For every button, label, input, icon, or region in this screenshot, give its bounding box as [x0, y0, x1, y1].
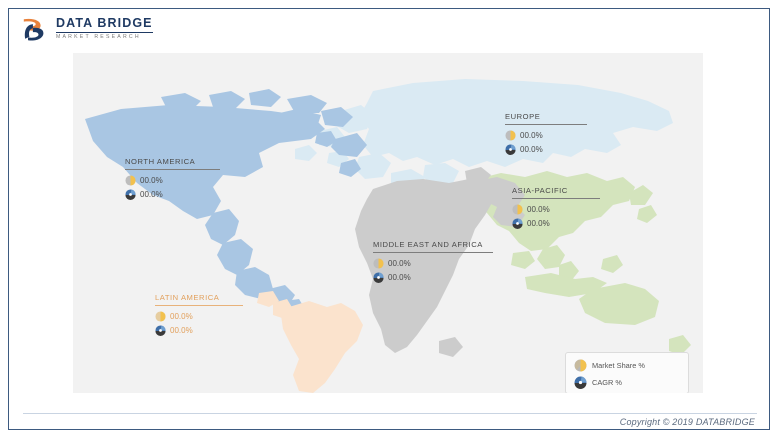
cagr-pie-icon	[155, 325, 166, 336]
metric-value: 00.0%	[170, 326, 193, 335]
callout-europe[interactable]: EUROPE 00.0% 00.0%	[505, 112, 587, 155]
metric-value: 00.0%	[520, 131, 543, 140]
map-legend: Market Share % CAGR %	[565, 352, 689, 393]
cagr-pie-icon	[574, 376, 587, 389]
market-share-pie-icon	[155, 311, 166, 322]
region-title: ASIA-PACIFIC	[512, 186, 600, 198]
metric-value: 00.0%	[520, 145, 543, 154]
callout-asia-pacific[interactable]: ASIA-PACIFIC 00.0% 00.0%	[512, 186, 600, 229]
metric-value: 00.0%	[388, 273, 411, 282]
metric-value: 00.0%	[527, 205, 550, 214]
region-title: EUROPE	[505, 112, 587, 124]
title-underline	[505, 124, 587, 125]
metric-value: 00.0%	[140, 176, 163, 185]
world-map-panel: Market Share % CAGR %	[73, 53, 703, 393]
metric-market-share: 00.0%	[373, 258, 493, 269]
callout-latin-america[interactable]: LATIN AMERICA 00.0% 00.0%	[155, 293, 243, 336]
region-title: MIDDLE EAST AND AFRICA	[373, 240, 493, 252]
metric-cagr: 00.0%	[125, 189, 220, 200]
cagr-pie-icon	[505, 144, 516, 155]
market-share-pie-icon	[373, 258, 384, 269]
metric-value: 00.0%	[388, 259, 411, 268]
metric-cagr: 00.0%	[512, 218, 600, 229]
legend-item: Market Share %	[574, 359, 680, 372]
map-region-north-america	[85, 89, 367, 315]
metric-cagr: 00.0%	[505, 144, 587, 155]
title-underline	[155, 305, 243, 306]
market-share-pie-icon	[512, 204, 523, 215]
market-share-pie-icon	[125, 175, 136, 186]
market-share-pie-icon	[574, 359, 587, 372]
brand-logo: DATA BRIDGE MARKET RESEARCH	[21, 15, 153, 43]
brand-name: DATA BRIDGE	[56, 17, 153, 33]
metric-market-share: 00.0%	[125, 175, 220, 186]
market-share-pie-icon	[505, 130, 516, 141]
title-underline	[125, 169, 220, 170]
metric-market-share: 00.0%	[505, 130, 587, 141]
region-title: NORTH AMERICA	[125, 157, 220, 169]
callout-north-america[interactable]: NORTH AMERICA 00.0% 00.0%	[125, 157, 220, 200]
cagr-pie-icon	[125, 189, 136, 200]
brand-wordmark: DATA BRIDGE MARKET RESEARCH	[56, 17, 153, 40]
metric-market-share: 00.0%	[512, 204, 600, 215]
copyright-text: Copyright © 2019 DATABRIDGE	[620, 417, 755, 427]
cagr-pie-icon	[373, 272, 384, 283]
footer-divider	[23, 413, 757, 414]
metric-value: 00.0%	[170, 312, 193, 321]
cagr-pie-icon	[512, 218, 523, 229]
world-map-svg	[73, 53, 703, 393]
report-frame: DATA BRIDGE MARKET RESEARCH	[8, 8, 770, 430]
metric-cagr: 00.0%	[373, 272, 493, 283]
region-title: LATIN AMERICA	[155, 293, 243, 305]
map-region-latin-america	[257, 291, 363, 393]
metric-cagr: 00.0%	[155, 325, 243, 336]
metric-market-share: 00.0%	[155, 311, 243, 322]
callout-middle-east-and-africa[interactable]: MIDDLE EAST AND AFRICA 00.0% 00.0%	[373, 240, 493, 283]
data-bridge-logo-icon	[21, 15, 49, 43]
legend-label: CAGR %	[592, 378, 622, 387]
legend-label: Market Share %	[592, 361, 645, 370]
legend-item: CAGR %	[574, 376, 680, 389]
header: DATA BRIDGE MARKET RESEARCH	[9, 9, 769, 47]
brand-tagline: MARKET RESEARCH	[56, 35, 153, 40]
metric-value: 00.0%	[140, 190, 163, 199]
title-underline	[512, 198, 600, 199]
metric-value: 00.0%	[527, 219, 550, 228]
title-underline	[373, 252, 493, 253]
